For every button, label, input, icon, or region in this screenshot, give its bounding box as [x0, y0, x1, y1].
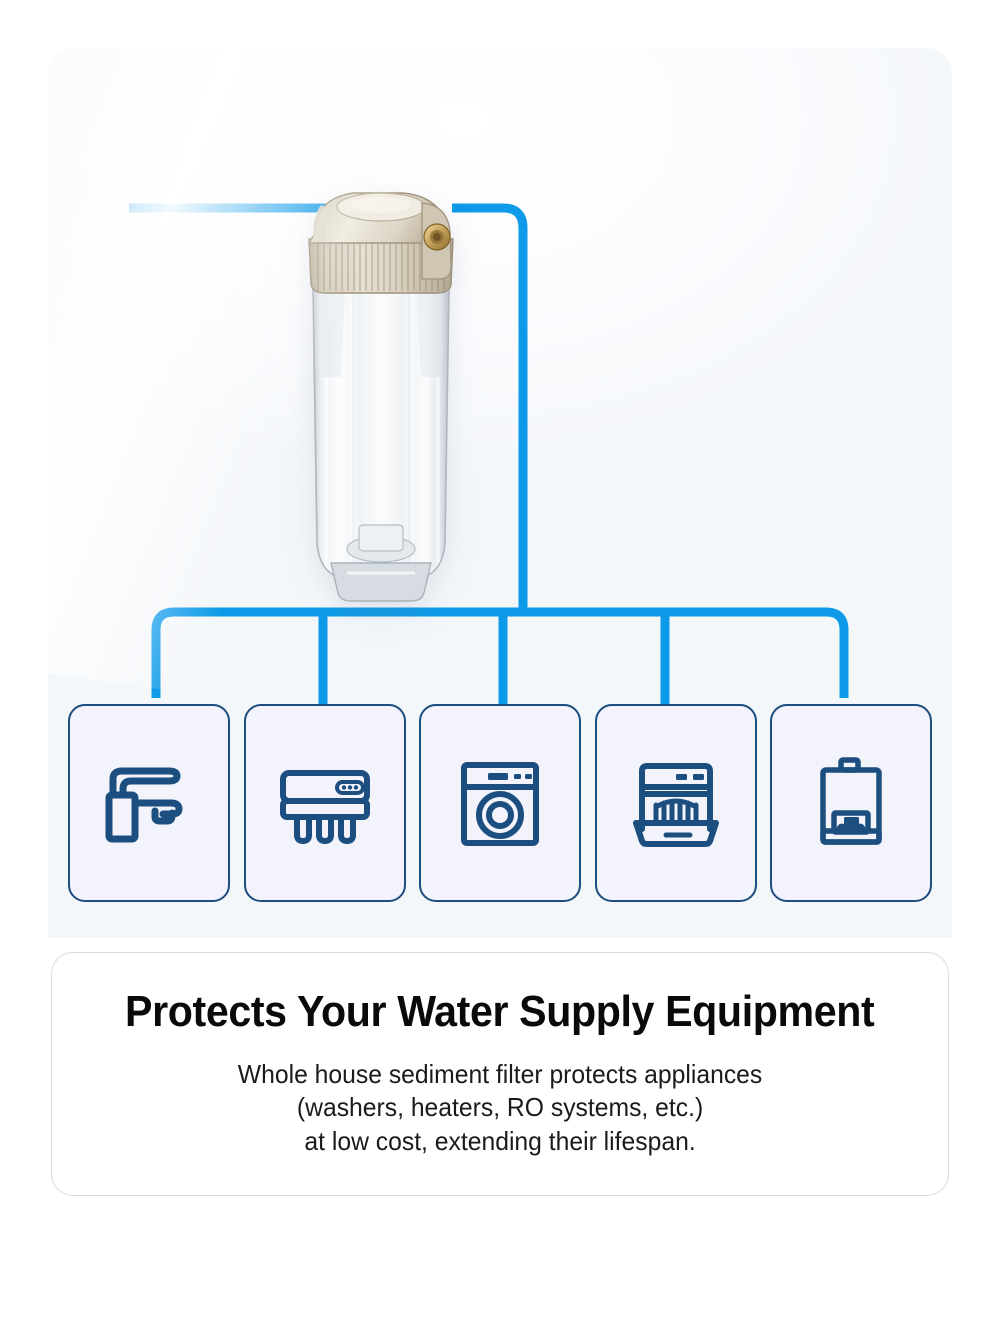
dishwasher-icon: [624, 751, 728, 855]
appliance-card-faucet[interactable]: [68, 704, 230, 902]
washing-machine-icon: [448, 751, 552, 855]
water-heater-icon: [799, 751, 903, 855]
appliance-card-washer[interactable]: [419, 704, 581, 902]
bowl-foot: [331, 563, 431, 601]
product-feature-graphic: Protects Your Water Supply Equipment Who…: [0, 0, 1000, 1324]
description-line-3: at low cost, extending their lifespan.: [238, 1125, 762, 1159]
appliance-card-dishwasher[interactable]: [595, 704, 757, 902]
page-title: Protects Your Water Supply Equipment: [125, 989, 874, 1036]
filter-housing-product: [291, 181, 471, 631]
appliance-card-row: [68, 704, 932, 902]
description-card: Protects Your Water Supply Equipment Who…: [51, 952, 949, 1196]
faucet-icon: [97, 751, 201, 855]
description-text: Whole house sediment filter protects app…: [238, 1058, 762, 1159]
filter-cap: [309, 193, 453, 293]
description-line-1: Whole house sediment filter protects app…: [238, 1058, 762, 1092]
ro-system-icon: [273, 751, 377, 855]
appliance-card-water-heater[interactable]: [770, 704, 932, 902]
filter-bowl: [313, 289, 449, 601]
description-line-2: (washers, heaters, RO systems, etc.): [238, 1091, 762, 1125]
appliance-card-ro-system[interactable]: [244, 704, 406, 902]
hero-diagram-area: [48, 48, 952, 938]
